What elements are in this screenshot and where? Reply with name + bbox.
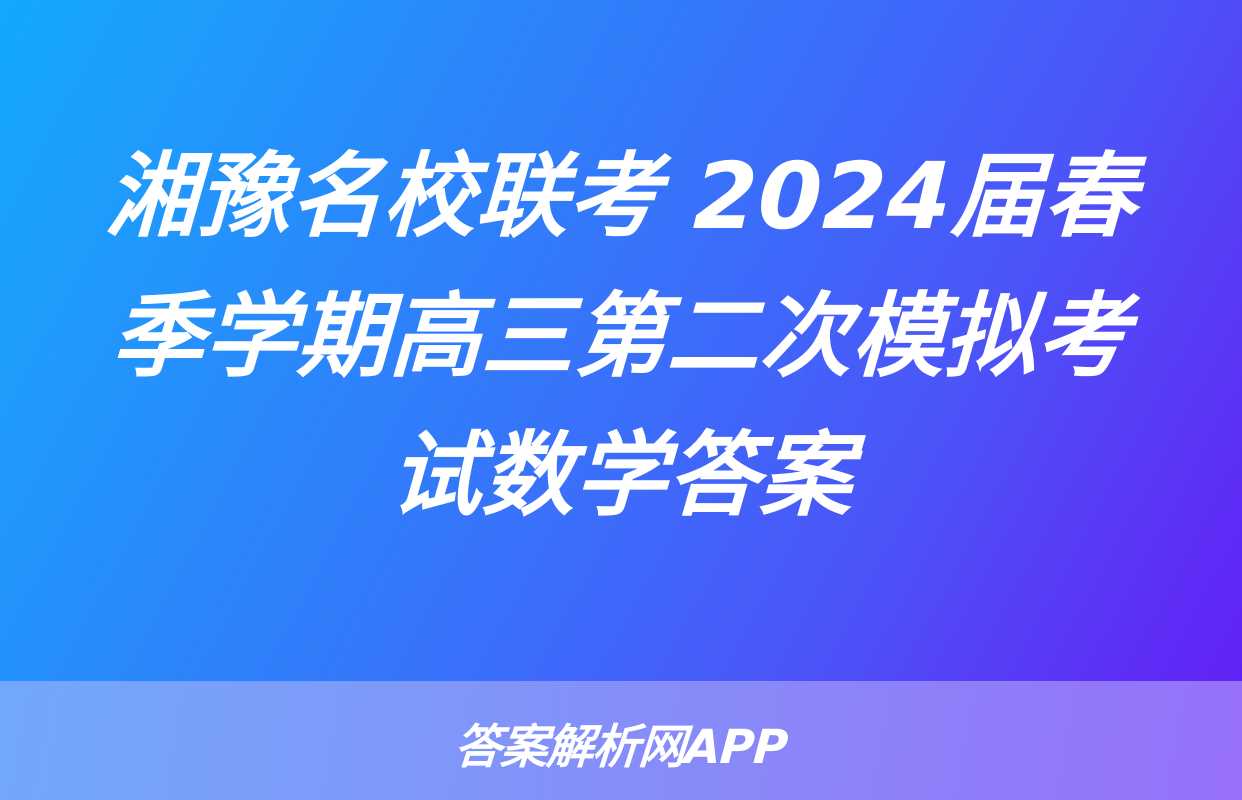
title-line-1: 湘豫名校联考 2024届春 xyxy=(103,127,1138,267)
title-line-3: 试数学答案 xyxy=(387,406,854,546)
footer-watermark-band: 答案解析网APP xyxy=(0,681,1242,800)
exam-title-banner: 湘豫名校联考 2024届春 季学期高三第二次模拟考 试数学答案 答案解析网APP xyxy=(0,0,1242,800)
title-line-2: 季学期高三第二次模拟考 xyxy=(110,267,1132,407)
app-watermark-label: 答案解析网APP xyxy=(452,708,789,777)
title-block: 湘豫名校联考 2024届春 季学期高三第二次模拟考 试数学答案 xyxy=(0,0,1242,681)
